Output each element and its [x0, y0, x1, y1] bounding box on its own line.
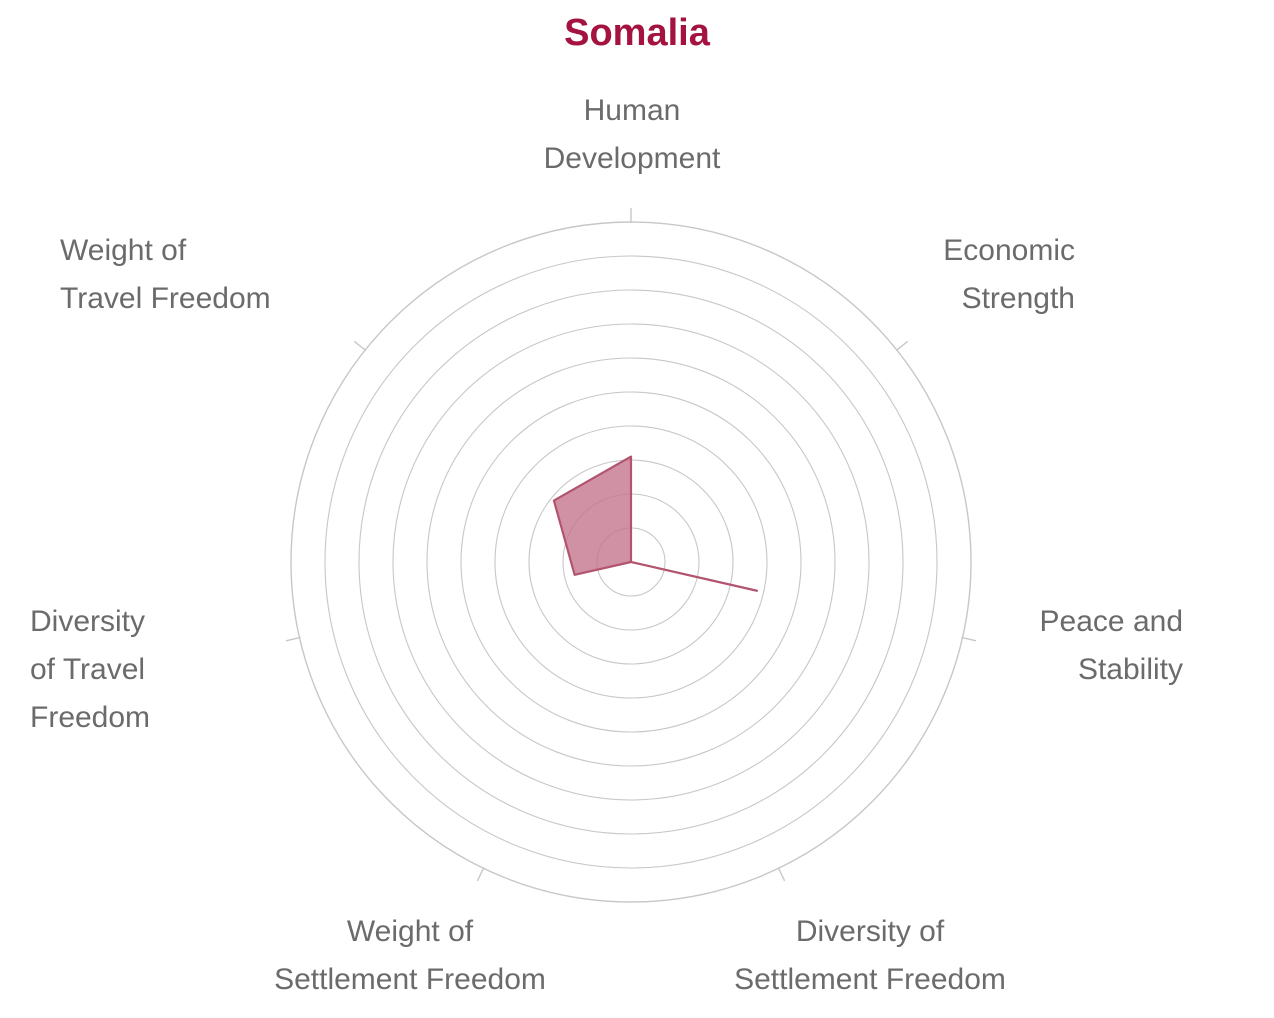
series-polygon-somalia — [554, 457, 757, 591]
series-area — [554, 457, 757, 591]
axis-label-weight-of-settlement-freedom: Weight of Settlement Freedom — [180, 908, 640, 1004]
axis-tick — [286, 637, 301, 640]
axis-tick — [477, 867, 484, 881]
axis-label-human-development: Human Development — [437, 87, 827, 183]
axis-tick — [354, 341, 366, 350]
axis-tick — [896, 341, 908, 350]
axis-label-diversity-of-travel-freedom: Diversity of Travel Freedom — [30, 598, 256, 742]
axis-label-peace-and-stability: Peace and Stability — [905, 598, 1183, 694]
axis-tick — [778, 867, 785, 881]
axis-label-weight-of-travel-freedom: Weight of Travel Freedom — [60, 227, 348, 323]
axis-label-economic-strength: Economic Strength — [790, 227, 1075, 323]
axis-label-diversity-of-settlement-freedom: Diversity of Settlement Freedom — [640, 908, 1100, 1004]
radar-chart-container: Somalia Human Development Economic Stren… — [0, 0, 1274, 1018]
